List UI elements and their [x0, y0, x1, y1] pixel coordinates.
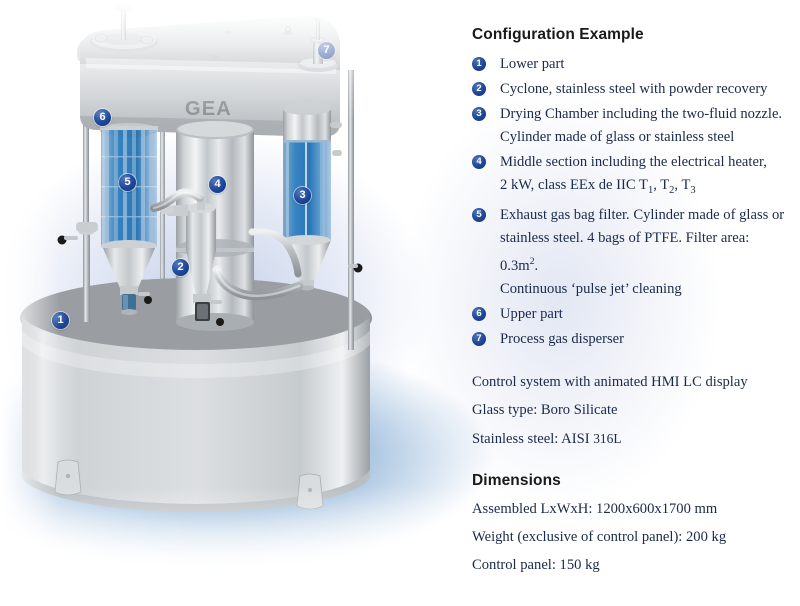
note-control-system: Control system with animated HMI LC disp…: [472, 370, 788, 395]
config-item-5: 5 Exhaust gas bag filter. Cylinder made …: [472, 204, 788, 301]
config-item-number: 5: [472, 208, 486, 222]
callout-badge-3[interactable]: 3: [294, 187, 311, 204]
config-item-line: Middle section including the electrical …: [500, 151, 788, 174]
dimension-assembled: Assembled LxWxH: 1200x600x1700 mm: [472, 497, 788, 522]
dimension-control-panel: Control panel: 150 kg: [472, 553, 788, 578]
config-item-7: 7 Process gas disperser: [472, 328, 788, 351]
config-item-3: 3 Drying Chamber including the two-fluid…: [472, 103, 788, 149]
config-item-line-filter-area: stainless steel. 4 bags of PTFE. Filter …: [500, 227, 788, 278]
panel-heading-configuration: Configuration Example: [472, 26, 788, 44]
config-item-number: 2: [472, 82, 486, 96]
config-item-line: Upper part: [500, 303, 788, 326]
config-item-number: 4: [472, 155, 486, 169]
config-item-number: 6: [472, 307, 486, 321]
dimension-weight: Weight (exclusive of control panel): 200…: [472, 525, 788, 550]
config-item-line: Exhaust gas bag filter. Cylinder made of…: [500, 204, 788, 227]
config-item-6: 6 Upper part: [472, 303, 788, 326]
specification-panel: Configuration Example 1 Lower part 2 Cyc…: [472, 26, 788, 581]
note-stainless-steel: Stainless steel: AISI 316L: [472, 426, 788, 452]
config-item-line-heater-rating: 2 kW, class EEx de IIC T1, T2, T3: [500, 174, 788, 202]
config-item-number: 1: [472, 57, 486, 71]
config-item-line: Cyclone, stainless steel with powder rec…: [500, 78, 788, 101]
config-item-line: Process gas disperser: [500, 328, 788, 351]
configuration-item-list: 1 Lower part 2 Cyclone, stainless steel …: [472, 53, 788, 351]
panel-heading-dimensions: Dimensions: [472, 472, 788, 490]
callout-badge-5[interactable]: 5: [119, 174, 136, 191]
page-root: GEA: [0, 0, 800, 606]
config-item-line: Cylinder made of glass or stainless stee…: [500, 126, 788, 149]
config-item-number: 7: [472, 332, 486, 346]
config-item-line: Continuous ‘pulse jet’ cleaning: [500, 278, 788, 301]
note-glass-type: Glass type: Boro Silicate: [472, 398, 788, 423]
general-notes: Control system with animated HMI LC disp…: [472, 370, 788, 452]
config-item-line: Lower part: [500, 53, 788, 76]
dimensions-list: Assembled LxWxH: 1200x600x1700 mm Weight…: [472, 497, 788, 578]
callout-badge-2[interactable]: 2: [172, 259, 189, 276]
config-item-number: 3: [472, 107, 486, 121]
config-item-2: 2 Cyclone, stainless steel with powder r…: [472, 78, 788, 101]
config-item-1: 1 Lower part: [472, 53, 788, 76]
config-item-line: Drying Chamber including the two-fluid n…: [500, 103, 788, 126]
callout-badge-4[interactable]: 4: [209, 176, 226, 193]
config-item-4: 4 Middle section including the electrica…: [472, 151, 788, 202]
